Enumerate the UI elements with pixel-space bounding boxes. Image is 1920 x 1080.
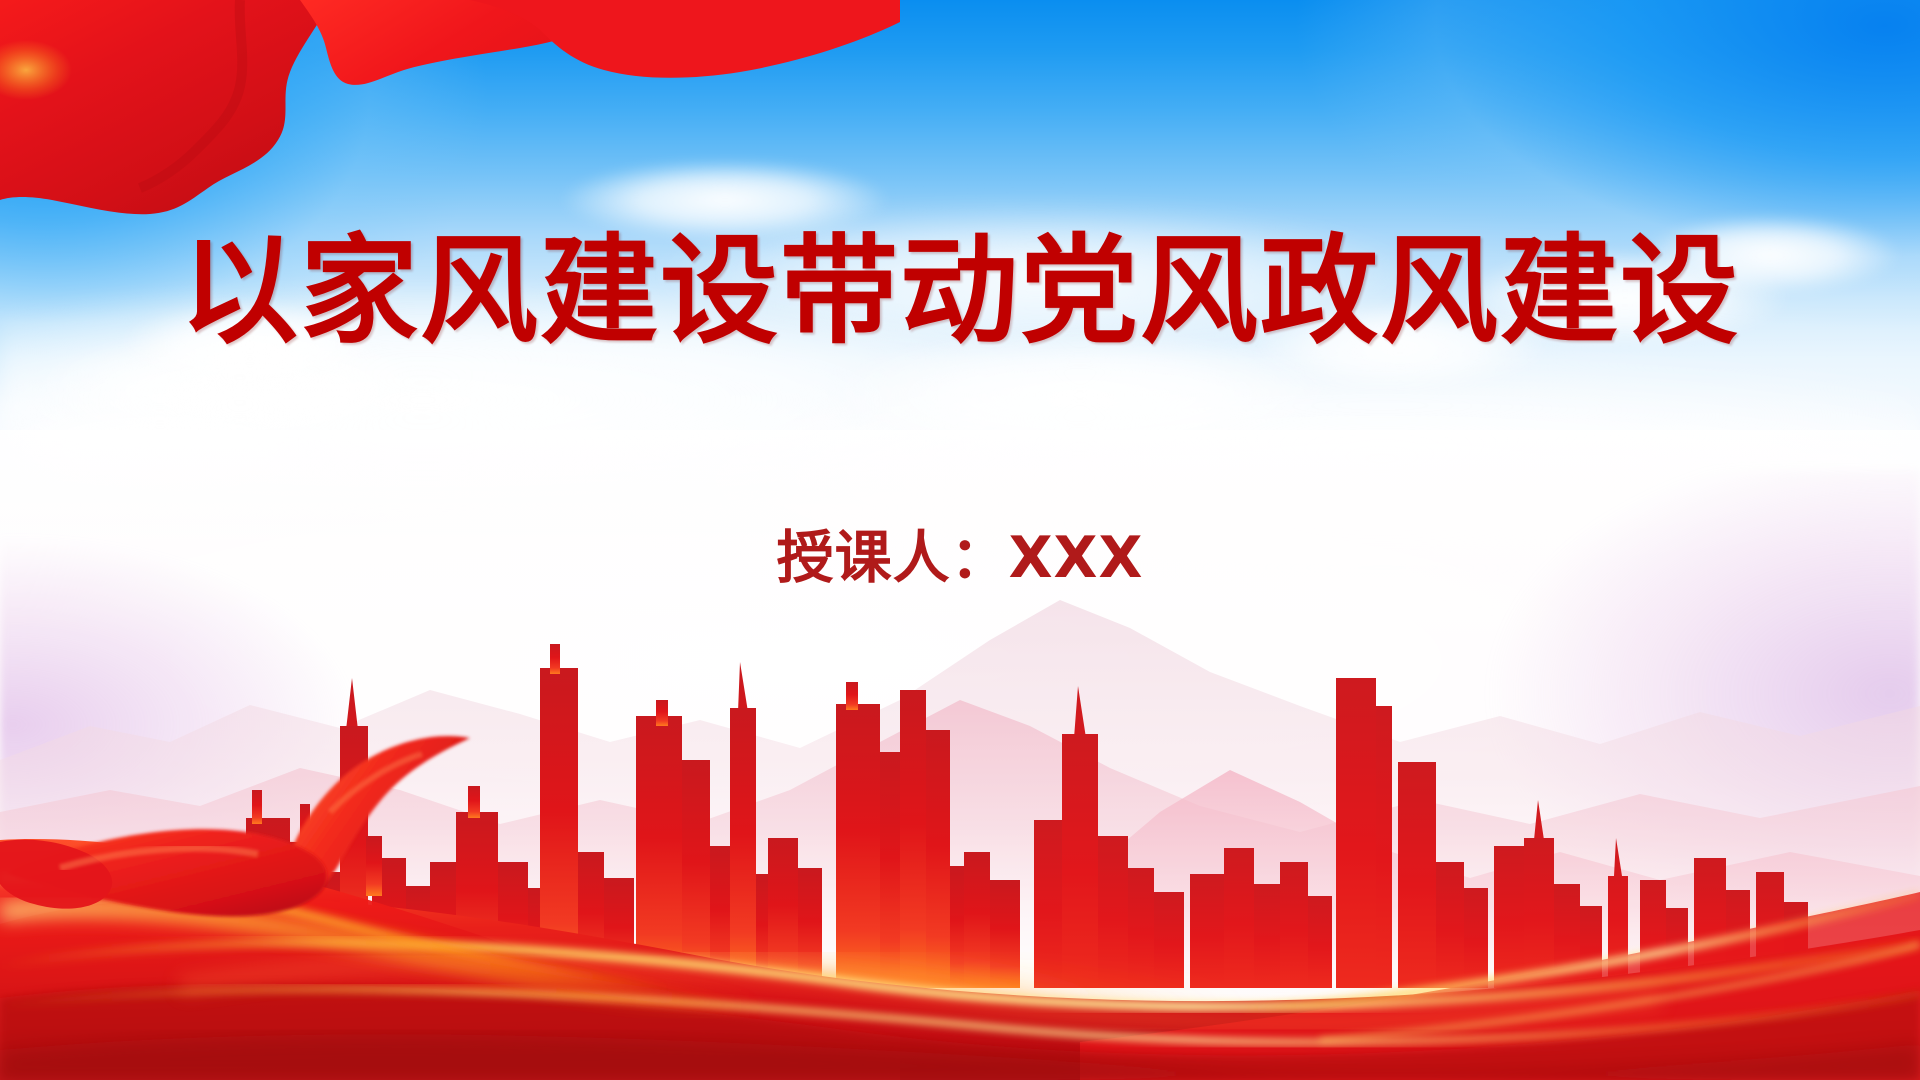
page-title: 以家风建设带动党风政风建设 <box>0 222 1920 361</box>
flag-main-panel <box>0 0 330 214</box>
presenter-subtitle: 授课人：XXX <box>0 512 1920 594</box>
lower-left-ribbon-bird <box>0 720 560 980</box>
top-left-waving-flag <box>0 0 900 260</box>
title-slide: 以家风建设带动党风政风建设 授课人：XXX <box>0 0 1920 1080</box>
